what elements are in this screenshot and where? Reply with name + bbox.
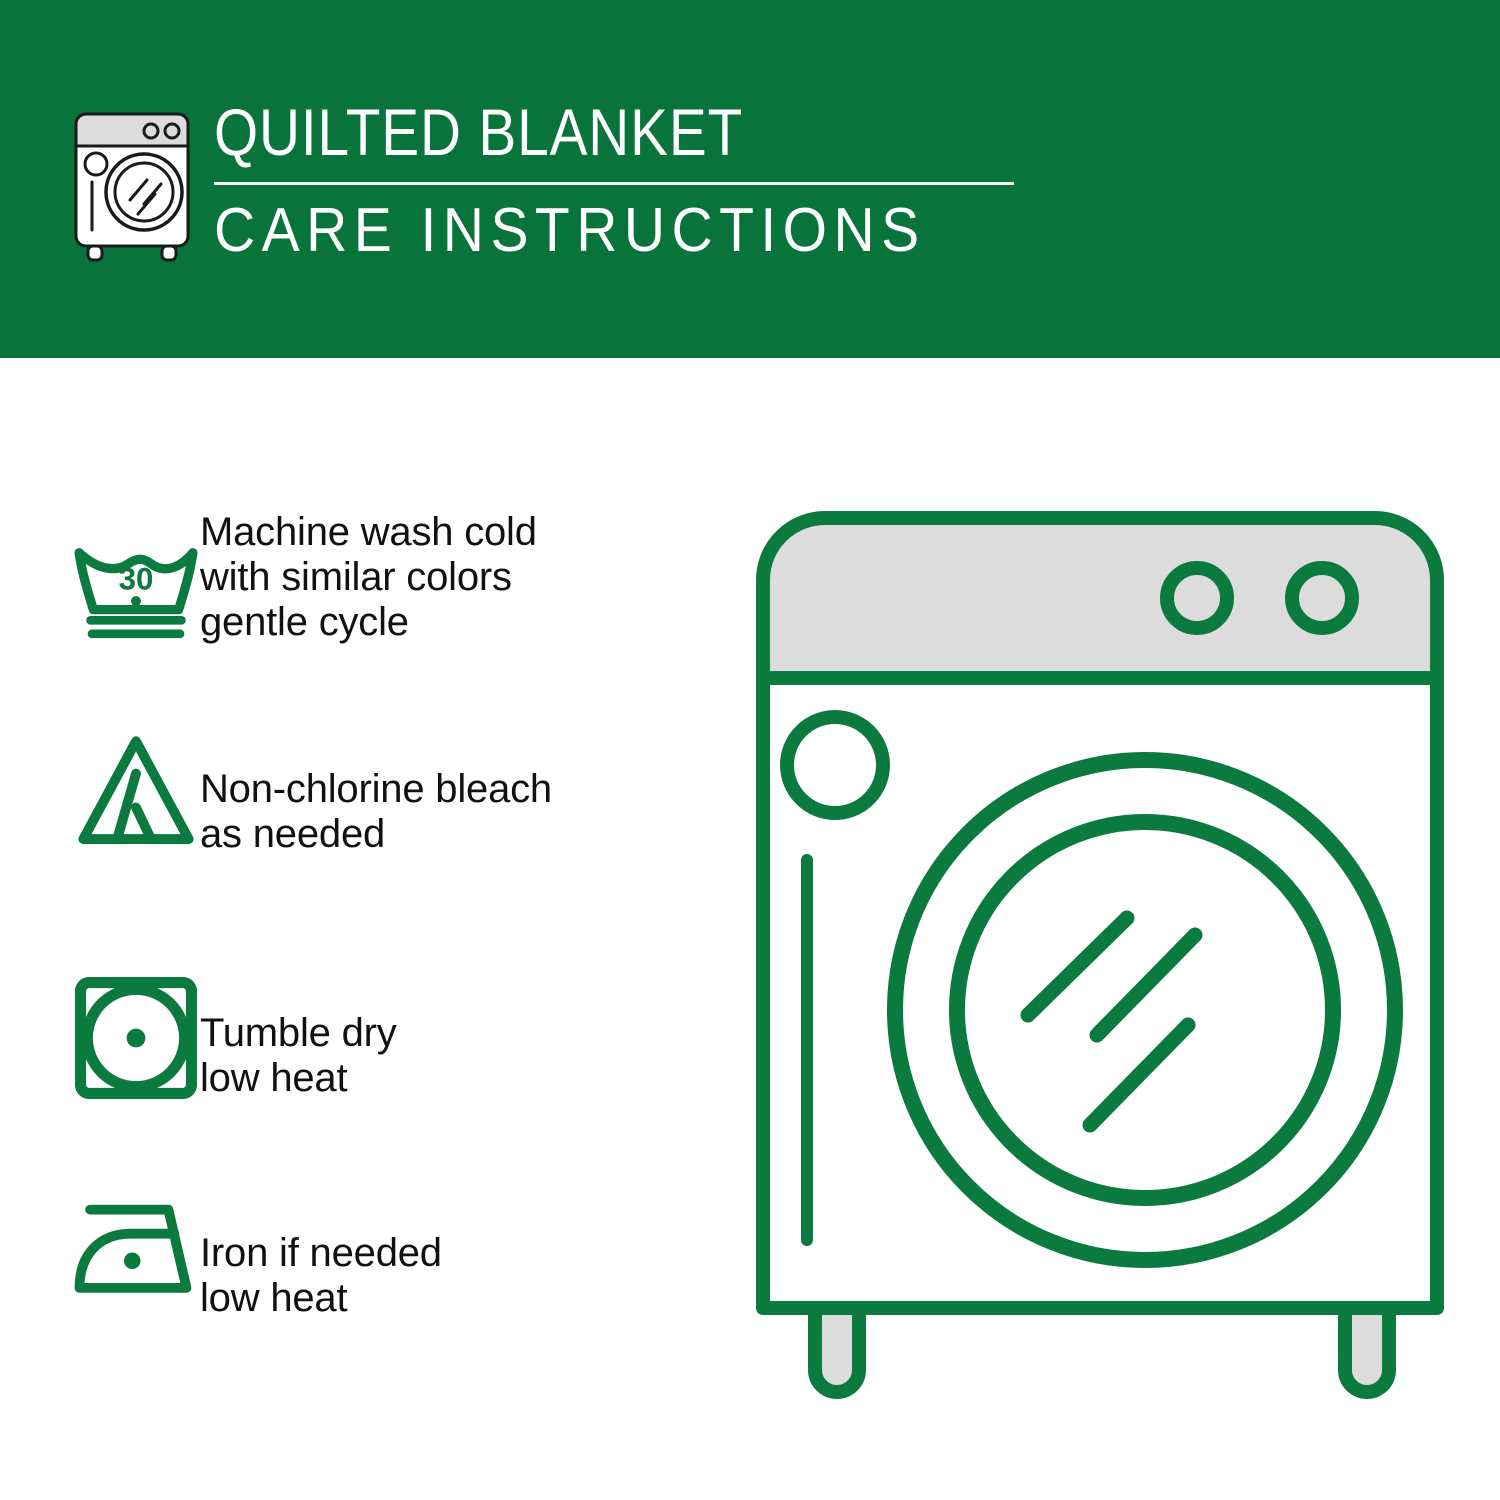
- machine-leg-right: [1345, 1308, 1389, 1392]
- care-instruction-list: 30 Machine wash cold with similar colors…: [0, 358, 740, 1500]
- page-title: QUILTED BLANKET: [214, 96, 928, 168]
- care-row-bleach: Non-chlorine bleach as needed: [0, 713, 700, 868]
- care-row-iron: Iron if needed low heat: [0, 1183, 700, 1321]
- non-chlorine-bleach-symbol: [0, 713, 200, 868]
- wash-temperature-value: 30: [119, 562, 154, 597]
- care-text-tumble-dry: Tumble dry low heat: [200, 963, 700, 1101]
- care-text-iron: Iron if needed low heat: [200, 1183, 700, 1321]
- care-line: Tumble dry: [200, 1011, 700, 1056]
- machine-leg-left: [815, 1308, 859, 1392]
- washing-machine-icon: [62, 104, 202, 264]
- care-line: with similar colors: [200, 555, 700, 600]
- header-banner: QUILTED BLANKET CARE INSTRUCTIONS: [0, 0, 1500, 358]
- care-line: Non-chlorine bleach: [200, 767, 700, 812]
- care-row-machine-wash: 30 Machine wash cold with similar colors…: [0, 508, 700, 664]
- care-line: Machine wash cold: [200, 510, 700, 555]
- care-line: gentle cycle: [200, 600, 700, 645]
- front-load-washing-machine-illustration: [745, 500, 1455, 1410]
- page-subtitle: CARE INSTRUCTIONS: [214, 197, 978, 265]
- header-text-block: QUILTED BLANKET CARE INSTRUCTIONS: [214, 96, 1044, 265]
- care-line: low heat: [200, 1276, 700, 1321]
- title-divider: [214, 182, 1014, 185]
- care-instructions-page: QUILTED BLANKET CARE INSTRUCTIONS 30: [0, 0, 1500, 1500]
- care-row-tumble-dry: Tumble dry low heat: [0, 963, 700, 1113]
- care-text-machine-wash: Machine wash cold with similar colors ge…: [200, 508, 700, 645]
- care-text-bleach: Non-chlorine bleach as needed: [200, 713, 700, 857]
- care-line: low heat: [200, 1056, 700, 1101]
- iron-low-heat-symbol: [0, 1183, 200, 1313]
- tumble-dry-low-symbol: [0, 963, 200, 1113]
- machine-wash-30-gentle-symbol: 30: [0, 508, 200, 664]
- care-line: Iron if needed: [200, 1231, 700, 1276]
- care-line: as needed: [200, 812, 700, 857]
